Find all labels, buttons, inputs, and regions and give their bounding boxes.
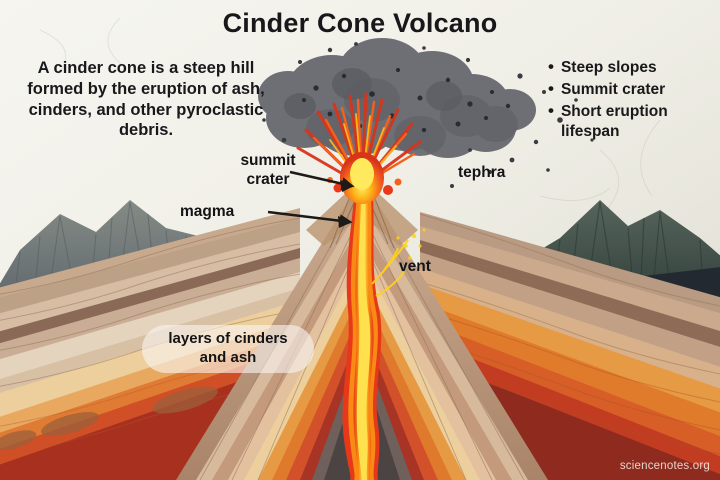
label-summit-crater: summit crater xyxy=(228,152,308,190)
label-tephra: tephra xyxy=(458,164,505,182)
bullet-icon: • xyxy=(548,102,554,121)
label-summit-crater-line1: summit xyxy=(228,152,308,171)
list-item-label: Steep slopes xyxy=(561,58,657,78)
bullet-icon: • xyxy=(548,58,554,77)
list-item-label: Summit crater xyxy=(561,80,665,100)
label-vent: vent xyxy=(399,258,431,276)
list-item: • Steep slopes xyxy=(548,58,716,78)
list-item-label: Short eruption lifespan xyxy=(561,102,716,142)
bullet-icon: • xyxy=(548,80,554,99)
label-magma: magma xyxy=(180,203,234,221)
watermark: sciencenotes.org xyxy=(620,460,710,472)
label-summit-crater-line2: crater xyxy=(228,171,308,190)
description-text: A cinder cone is a steep hill formed by … xyxy=(18,58,274,141)
label-layers-line1: layers of cinders xyxy=(148,330,308,349)
label-layers-line2: and ash xyxy=(148,349,308,368)
list-item: • Short eruption lifespan xyxy=(548,102,716,142)
illustration-canvas: Cinder Cone Volcano A cinder cone is a s… xyxy=(0,0,720,480)
page-title: Cinder Cone Volcano xyxy=(0,8,720,39)
key-facts-list: • Steep slopes • Summit crater • Short e… xyxy=(548,58,716,145)
list-item: • Summit crater xyxy=(548,80,716,100)
label-layers-of-cinders-and-ash: layers of cinders and ash xyxy=(142,325,314,373)
